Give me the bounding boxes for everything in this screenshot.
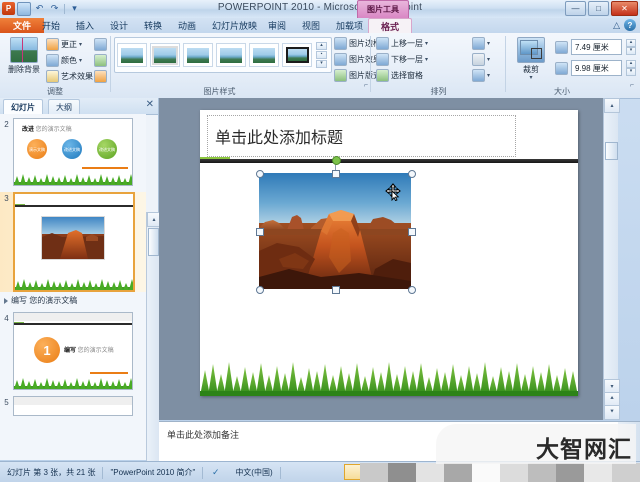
close-button[interactable]: ✕ bbox=[611, 1, 638, 16]
mini-circle-1: 演示文稿 bbox=[27, 139, 47, 159]
group-icon bbox=[472, 53, 485, 66]
mini-slide-content bbox=[15, 194, 133, 290]
change-picture-icon bbox=[94, 54, 107, 67]
group-divider bbox=[110, 36, 111, 92]
artistic-effects-button[interactable]: 艺术效果 ▾ bbox=[46, 70, 98, 83]
compress-pictures-button[interactable] bbox=[94, 38, 107, 51]
tab-slides[interactable]: 幻灯片 bbox=[3, 99, 43, 115]
resize-handle-s[interactable] bbox=[332, 286, 340, 294]
crop-label: 裁剪 bbox=[523, 65, 539, 74]
slide-number: 3 bbox=[0, 192, 13, 292]
next-slide-button[interactable]: ⯆ bbox=[604, 405, 620, 420]
picture-styles-gallery[interactable]: ▴ ▪ ▾ bbox=[114, 37, 332, 73]
resize-handle-ne[interactable] bbox=[408, 170, 416, 178]
picture-border-icon bbox=[334, 37, 347, 50]
slide-thumbnail-list[interactable]: 2 改进 您的演示文稿 演示文稿 改进文稿 改进文稿 bbox=[0, 114, 146, 460]
style-thumb-3[interactable] bbox=[183, 43, 213, 67]
resize-handle-n[interactable] bbox=[332, 170, 340, 178]
mini-slide-title: 编写 您的演示文稿 bbox=[64, 345, 114, 354]
tab-design[interactable]: 设计 bbox=[104, 18, 134, 33]
resize-handle-sw[interactable] bbox=[256, 286, 264, 294]
title-bar: P ↶ ↷ ▾ POWERPOINT 2010 - Microsoft Powe… bbox=[0, 0, 640, 19]
color-button[interactable]: 颜色 ▾ bbox=[46, 54, 82, 67]
mini-slide-content: 1 编写 您的演示文稿 bbox=[14, 313, 132, 389]
group-divider bbox=[370, 36, 371, 92]
shape-height-input[interactable]: 7.49 厘米 bbox=[571, 39, 622, 55]
style-thumb-1[interactable] bbox=[117, 43, 147, 67]
corrections-label: 更正 bbox=[61, 39, 77, 50]
gallery-more-icon[interactable]: ▾ bbox=[316, 60, 327, 68]
mini-accent-line bbox=[82, 167, 128, 169]
slide-area-scrollbar[interactable]: ▴ ▾ ⯅ ⯆ bbox=[603, 98, 618, 420]
spellcheck-icon: ✓ bbox=[210, 467, 221, 478]
selected-picture[interactable] bbox=[259, 173, 411, 289]
section-header-label: 编写 您的演示文稿 bbox=[11, 295, 77, 306]
corrections-icon bbox=[46, 38, 59, 51]
group-button[interactable]: ▾ bbox=[472, 53, 490, 66]
mini-big-number: 1 bbox=[34, 337, 60, 363]
send-backward-icon bbox=[376, 53, 389, 66]
size-dialog-launcher[interactable]: ⌐ bbox=[630, 82, 634, 89]
slide-thumbnail-3[interactable]: 3 bbox=[0, 192, 146, 292]
align-icon bbox=[472, 37, 485, 50]
ribbon-group-arrange: 上移一层 ▾ 下移一层 ▾ 选择窗格 ▾ bbox=[372, 33, 505, 97]
resize-handle-se[interactable] bbox=[408, 286, 416, 294]
send-backward-button[interactable]: 下移一层 ▾ bbox=[376, 53, 428, 66]
send-backward-label: 下移一层 bbox=[391, 54, 423, 65]
slide-count-status[interactable]: 幻灯片 第 3 张，共 21 张 bbox=[0, 462, 102, 482]
artistic-effects-icon bbox=[46, 70, 59, 83]
gallery-scroll-up-icon[interactable]: ▴ bbox=[316, 42, 327, 50]
arrange-group-label: 排列 bbox=[372, 86, 505, 97]
window-controls: — □ ✕ bbox=[565, 1, 638, 16]
style-thumb-2[interactable] bbox=[150, 43, 180, 67]
title-underline-rule bbox=[200, 159, 578, 163]
move-cursor bbox=[385, 183, 399, 197]
grass-decoration bbox=[200, 360, 578, 396]
tab-review[interactable]: 审阅 bbox=[262, 18, 292, 33]
expand-triangle-icon[interactable] bbox=[4, 298, 8, 304]
slide-thumbnail-2[interactable]: 2 改进 您的演示文稿 演示文稿 改进文稿 改进文稿 bbox=[0, 118, 146, 188]
slide-thumbnail-5[interactable]: 5 bbox=[0, 396, 146, 416]
remove-background-button[interactable]: 删除背景 bbox=[4, 37, 44, 74]
pixelated-overlay bbox=[360, 463, 640, 482]
mini-grass-decoration bbox=[15, 279, 133, 290]
window-title: POWERPOINT 2010 - Microsoft PowerPoint bbox=[0, 2, 640, 13]
slide-number: 5 bbox=[0, 396, 13, 416]
slides-pane-scrollbar[interactable]: ▴ ▾ bbox=[146, 212, 159, 482]
slide-editing-area: 单击此处添加标题 bbox=[159, 98, 618, 420]
artistic-effects-label: 艺术效果 bbox=[61, 71, 93, 82]
picture-styles-dialog-launcher[interactable]: ⌐ bbox=[364, 82, 368, 89]
slide-preview-selected[interactable] bbox=[13, 192, 135, 292]
slide-number: 2 bbox=[0, 118, 13, 188]
style-thumb-4[interactable] bbox=[216, 43, 246, 67]
maximize-button[interactable]: □ bbox=[588, 1, 609, 16]
language-status[interactable]: 中文(中国) bbox=[228, 462, 279, 482]
scrollbar-thumb[interactable] bbox=[148, 228, 159, 256]
notes-placeholder: 单击此处添加备注 bbox=[167, 428, 239, 441]
ribbon-group-size: 裁剪 ▾ 7.49 厘米 ▴▾ 9.98 厘米 ▴▾ 大小 ⌐ bbox=[507, 33, 640, 97]
picture-layout-icon bbox=[334, 69, 347, 82]
mini-slide-content: 改进 您的演示文稿 演示文稿 改进文稿 改进文稿 bbox=[14, 119, 132, 185]
arrange-align-buttons: ▾ ▾ ▾ bbox=[472, 37, 490, 82]
tab-insert[interactable]: 插入 bbox=[70, 18, 100, 33]
gallery-scroll-down-icon[interactable]: ▪ bbox=[316, 51, 327, 59]
slide-preview[interactable]: 1 编写 您的演示文稿 bbox=[13, 312, 133, 390]
mini-circle-3: 改进文稿 bbox=[97, 139, 117, 159]
ribbon: 删除背景 更正 ▾ 颜色 ▾ 艺术效果 ▾ bbox=[0, 33, 640, 99]
mini-grass-decoration bbox=[14, 174, 132, 185]
remove-background-icon bbox=[10, 37, 38, 63]
size-group-label: 大小 bbox=[507, 86, 617, 97]
mini-header-band bbox=[14, 313, 132, 321]
slide-thumbnail-4[interactable]: 4 1 编写 您的演示文稿 bbox=[0, 312, 146, 392]
picture-effects-icon bbox=[334, 53, 347, 66]
mini-picture bbox=[41, 216, 105, 260]
tab-transitions[interactable]: 转换 bbox=[138, 18, 168, 33]
theme-name-status[interactable]: "PowerPoint 2010 简介" bbox=[103, 462, 202, 482]
ribbon-group-adjust: 删除背景 更正 ▾ 颜色 ▾ 艺术效果 ▾ bbox=[0, 33, 110, 97]
chevron-down-icon: ▾ bbox=[79, 57, 82, 64]
mini-accent-line bbox=[90, 372, 128, 374]
rotate-icon bbox=[472, 69, 485, 82]
slides-pane: 幻灯片 大纲 ✕ 2 改进 您的演示文稿 演示文稿 改进文稿 改进文稿 bbox=[0, 98, 159, 460]
reset-picture-button[interactable] bbox=[94, 70, 107, 83]
adjust-group-label: 调整 bbox=[0, 86, 110, 97]
selection-pane-label: 选择窗格 bbox=[391, 70, 423, 81]
collapse-ribbon-icon[interactable]: △ bbox=[613, 20, 620, 31]
corrections-button[interactable]: 更正 ▾ bbox=[46, 38, 82, 51]
style-thumb-5[interactable] bbox=[249, 43, 279, 67]
mini-circle-2: 改进文稿 bbox=[62, 139, 82, 159]
chevron-down-icon: ▾ bbox=[79, 41, 82, 48]
bring-forward-label: 上移一层 bbox=[391, 38, 423, 49]
chevron-down-icon: ▾ bbox=[425, 40, 428, 47]
rotation-handle[interactable] bbox=[332, 156, 341, 165]
tab-animations[interactable]: 动画 bbox=[172, 18, 202, 33]
resize-handle-e[interactable] bbox=[408, 228, 416, 236]
tab-home[interactable]: 开始 bbox=[36, 18, 66, 33]
arrange-order-buttons: 上移一层 ▾ 下移一层 ▾ 选择窗格 bbox=[376, 37, 428, 82]
shape-height-row: 7.49 厘米 ▴▾ bbox=[555, 39, 636, 55]
mini-slide-title: 改进 您的演示文稿 bbox=[22, 124, 72, 133]
group-divider bbox=[505, 36, 506, 92]
picture-styles-group-label: 图片样式 bbox=[112, 86, 327, 97]
spellcheck-status[interactable]: ✓ bbox=[203, 462, 228, 482]
tab-slideshow[interactable]: 幻灯片放映 bbox=[206, 18, 263, 33]
title-placeholder-text: 单击此处添加标题 bbox=[215, 124, 343, 148]
tab-outline[interactable]: 大纲 bbox=[48, 99, 80, 115]
watermark-text: 大智网汇 bbox=[536, 430, 632, 464]
ribbon-tab-strip: 文件 开始 插入 设计 转换 动画 幻灯片放映 审阅 视图 加载项 格式 △ ? bbox=[0, 18, 640, 34]
reset-picture-icon bbox=[94, 70, 107, 83]
section-header[interactable]: 编写 您的演示文稿 bbox=[0, 292, 146, 308]
ribbon-help-icons: △ ? bbox=[613, 19, 636, 31]
resize-handle-w[interactable] bbox=[256, 228, 264, 236]
bring-forward-icon bbox=[376, 37, 389, 50]
contextual-tab-title: 图片工具 bbox=[357, 0, 409, 18]
style-thumb-6[interactable] bbox=[282, 43, 312, 67]
slides-pane-tabs: 幻灯片 大纲 ✕ bbox=[0, 98, 158, 115]
title-placeholder[interactable]: 单击此处添加标题 bbox=[207, 115, 516, 157]
align-button[interactable]: ▾ bbox=[472, 37, 490, 50]
gallery-scroll-buttons: ▴ ▪ ▾ bbox=[316, 42, 327, 68]
scrollbar-thumb[interactable] bbox=[605, 142, 618, 160]
chevron-down-icon: ▾ bbox=[425, 56, 428, 63]
rotate-button[interactable]: ▾ bbox=[472, 69, 490, 82]
crop-icon bbox=[517, 37, 545, 63]
width-spinner[interactable]: ▴▾ bbox=[626, 60, 636, 76]
mini-grass-decoration bbox=[14, 378, 132, 389]
change-picture-button[interactable] bbox=[94, 54, 107, 67]
shape-width-row: 9.98 厘米 ▴▾ bbox=[555, 60, 636, 76]
chevron-down-icon: ▾ bbox=[487, 56, 490, 63]
mini-slide-content bbox=[14, 397, 132, 415]
remove-background-label: 删除背景 bbox=[8, 65, 40, 74]
shape-width-input[interactable]: 9.98 厘米 bbox=[571, 60, 622, 76]
mini-rule bbox=[14, 323, 132, 325]
status-divider bbox=[280, 467, 281, 479]
crop-button[interactable]: 裁剪 ▾ bbox=[511, 37, 551, 81]
help-icon[interactable]: ? bbox=[624, 19, 636, 31]
slide-number: 4 bbox=[0, 312, 13, 392]
tab-view[interactable]: 视图 bbox=[296, 18, 326, 33]
slide-preview[interactable]: 改进 您的演示文稿 演示文稿 改进文稿 改进文稿 bbox=[13, 118, 133, 186]
shape-width-icon bbox=[555, 62, 568, 75]
resize-handle-nw[interactable] bbox=[256, 170, 264, 178]
chevron-down-icon: ▾ bbox=[487, 72, 490, 79]
powerpoint-window: P ↶ ↷ ▾ POWERPOINT 2010 - Microsoft Powe… bbox=[0, 0, 640, 482]
tab-addins[interactable]: 加载项 bbox=[330, 18, 369, 33]
chevron-down-icon: ▾ bbox=[487, 40, 490, 47]
color-label: 颜色 bbox=[61, 55, 77, 66]
height-spinner[interactable]: ▴▾ bbox=[626, 39, 636, 55]
chevron-down-icon: ▾ bbox=[529, 74, 532, 81]
slide-canvas[interactable]: 单击此处添加标题 bbox=[200, 110, 578, 396]
color-icon bbox=[46, 54, 59, 67]
selection-pane-button[interactable]: 选择窗格 bbox=[376, 69, 428, 82]
bring-forward-button[interactable]: 上移一层 ▾ bbox=[376, 37, 428, 50]
mini-rule bbox=[15, 205, 133, 207]
shape-height-icon bbox=[555, 41, 568, 54]
scroll-up-icon[interactable]: ▴ bbox=[604, 98, 620, 113]
ribbon-group-picture-styles: ▴ ▪ ▾ 图片边框 ▾ 图片效果 ▾ 图片版式 bbox=[112, 33, 370, 97]
slide-preview[interactable] bbox=[13, 396, 133, 416]
selection-pane-icon bbox=[376, 69, 389, 82]
close-pane-icon[interactable]: ✕ bbox=[146, 100, 154, 110]
compress-pictures-icon bbox=[94, 38, 107, 51]
minimize-button[interactable]: — bbox=[565, 1, 586, 16]
